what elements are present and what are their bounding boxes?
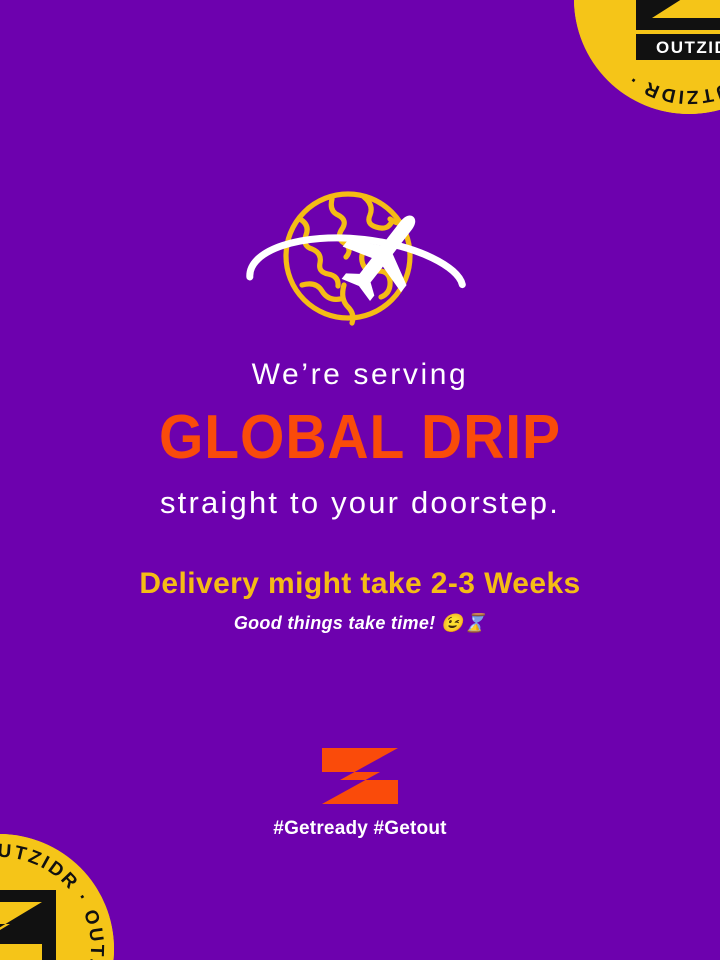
hero-illustration <box>0 168 720 348</box>
delivery-notice: Delivery might take 2-3 Weeks <box>0 567 720 600</box>
sticker-badge-top-right: OUTZIDR · OUTZIDR · OUTZIDR · OUTZIDR · … <box>574 0 720 114</box>
footer-brand: #Getready #Getout <box>0 746 720 840</box>
svg-text:OUTZIDR: OUTZIDR <box>656 38 720 57</box>
good-things-line: Good things take time! 😉⌛ <box>0 614 720 634</box>
badge-inner-mark: OUTZIDR <box>636 0 720 60</box>
doorstep-line: straight to your doorstep. <box>0 486 720 520</box>
headline: GLOBAL DRIP <box>29 403 691 472</box>
copy-block: We’re serving GLOBAL DRIP straight to yo… <box>0 358 720 633</box>
z-logo-icon <box>318 746 402 806</box>
serving-line: We’re serving <box>0 358 720 391</box>
promo-poster: OUTZIDR · OUTZIDR · OUTZIDR · OUTZIDR · … <box>0 0 720 960</box>
sticker-badge-bottom-left: OUTZIDR · OUTZIDR · OUTZIDR · OUTZIDR · … <box>0 834 114 960</box>
badge-inner-mark: OUTZIDR <box>0 890 64 960</box>
orbit-arc <box>249 213 468 328</box>
